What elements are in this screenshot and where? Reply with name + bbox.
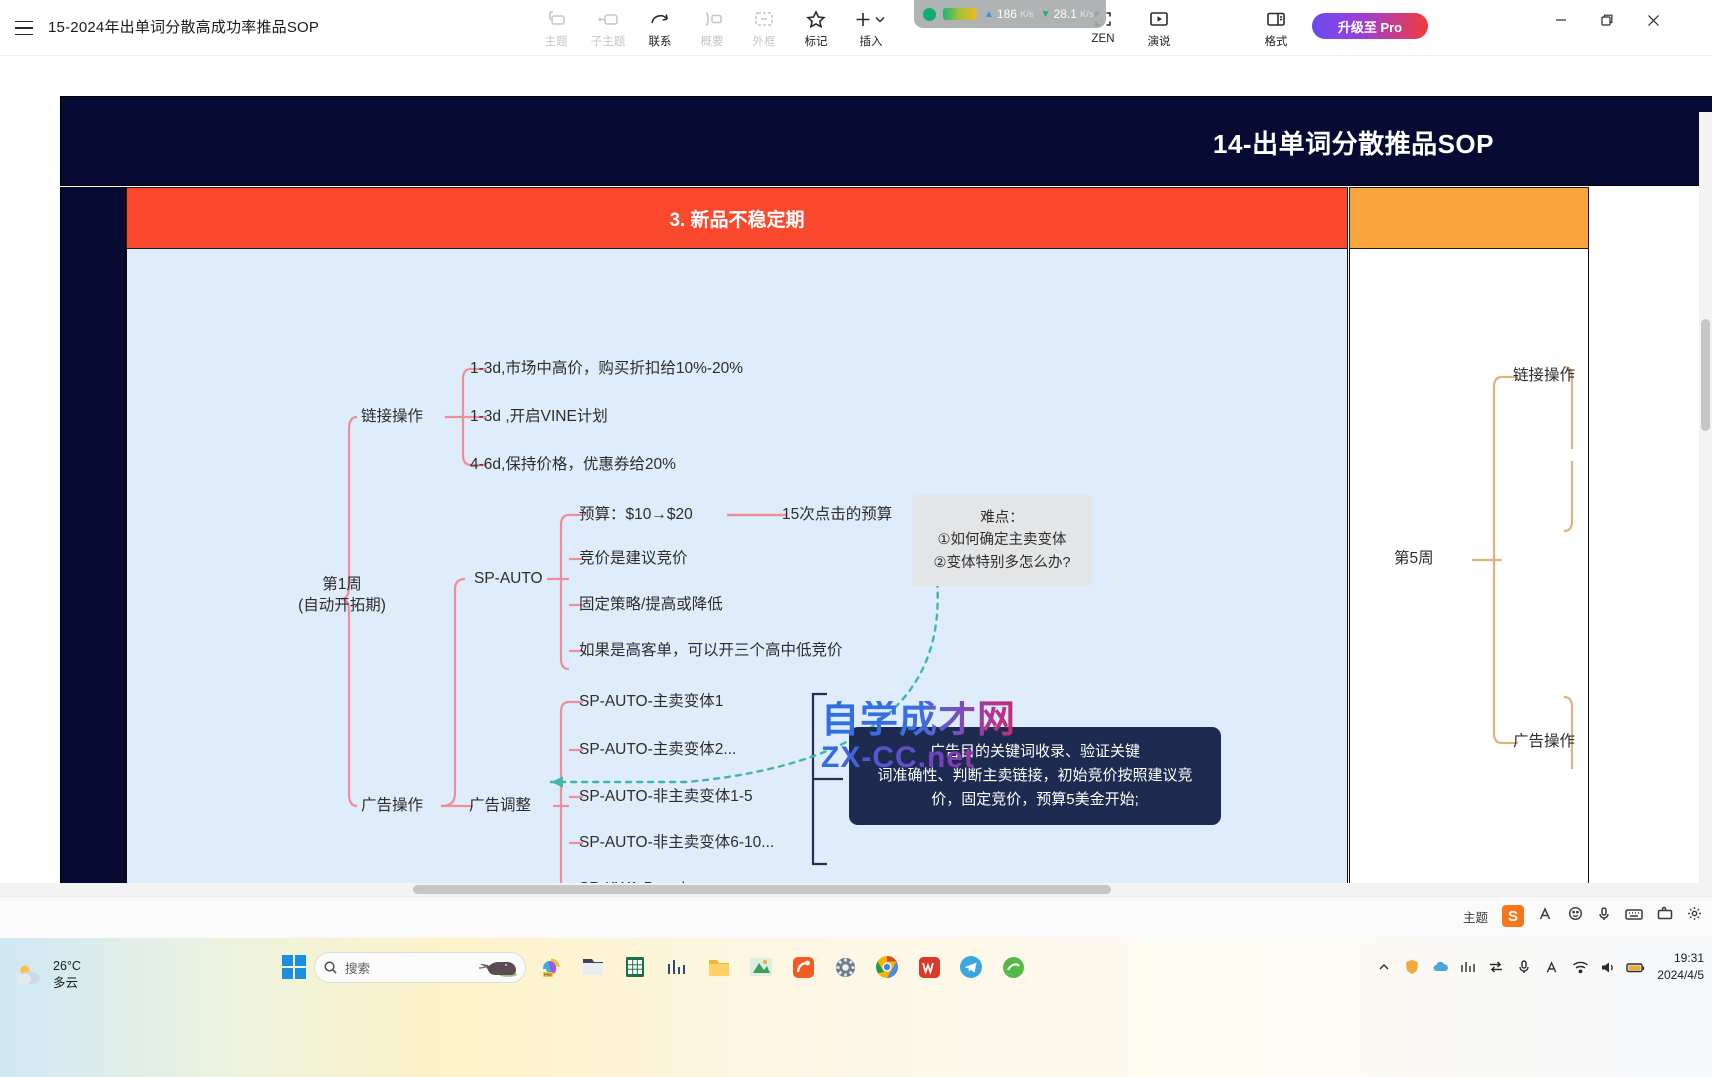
minimize-button[interactable]: [1538, 0, 1584, 40]
difficulty-callout-line-1: 难点：: [926, 507, 1078, 529]
topic-icon: [546, 8, 566, 30]
ad-purpose-line-2: 词准确性、判断主卖链接，初始竞价按照建议竞: [865, 764, 1205, 788]
tool-zen-label: ZEN: [1092, 33, 1115, 45]
tool-subtopic[interactable]: 子主题: [582, 4, 634, 52]
search-icon: [323, 960, 338, 975]
tool-topic-label: 主题: [545, 33, 568, 49]
close-button[interactable]: [1630, 0, 1676, 40]
network-transfer-icon[interactable]: [1483, 952, 1509, 982]
node-link-child-1[interactable]: 1-3d,市场中高价，购买折扣给10%-20%: [470, 359, 743, 380]
phase-banner-unstable[interactable]: 3. 新品不稳定期: [126, 187, 1348, 249]
summary-icon: [701, 8, 723, 30]
status-dot-icon: [923, 8, 936, 21]
difficulty-callout-line-2: ①如何确定主卖变体: [926, 529, 1078, 551]
tool-relation[interactable]: 联系: [634, 4, 686, 52]
mindmap-canvas[interactable]: 14-出单词分散推品SOP 3. 新品不稳定期: [0, 56, 1712, 910]
chevron-up-icon[interactable]: [1371, 952, 1397, 982]
branch-lines-right: [1350, 249, 1590, 910]
node-sp-auto-child-4[interactable]: 如果是高客单，可以开三个高中低竞价: [579, 641, 843, 662]
node-budget-note[interactable]: 15次点击的预算: [782, 505, 892, 526]
ad-purpose-line-1: 广告目的关键词收录、验证关键: [865, 740, 1205, 764]
tool-insert-label: 插入: [860, 33, 883, 49]
svg-text:PRE: PRE: [544, 972, 553, 977]
keyboard-icon[interactable]: [1625, 907, 1643, 926]
tool-present-label: 演说: [1148, 33, 1171, 49]
difficulty-callout[interactable]: 难点： ①如何确定主卖变体 ②变体特别多怎么办?: [912, 495, 1092, 586]
board-header: 14-出单词分散推品SOP: [60, 96, 1712, 186]
toolbox-icon[interactable]: [1657, 906, 1673, 926]
weather-text: 26°C 多云: [53, 958, 81, 992]
network-speed-widget[interactable]: ▲ 186 K/s ▼ 28.1 K/s: [914, 0, 1106, 28]
excel-icon[interactable]: [618, 950, 652, 984]
tool-marker-label: 标记: [805, 33, 828, 49]
restore-button[interactable]: [1584, 0, 1630, 40]
volume-icon[interactable]: [1595, 952, 1621, 982]
tool-insert[interactable]: 插入: [842, 4, 900, 52]
upgrade-pro-button[interactable]: 升级至 Pro: [1312, 13, 1428, 39]
relation-icon: [649, 8, 671, 30]
status-bar: 主题 S: [0, 896, 1712, 938]
ad-purpose-line-3: 价，固定竞价，预算5美金开始;: [865, 788, 1205, 812]
node-link-child-3[interactable]: 4-6d,保持价格，优惠券给20%: [470, 455, 676, 476]
ad-purpose-callout[interactable]: 广告目的关键词收录、验证关键 词准确性、判断主卖链接，初始竞价按照建议竞 价，固…: [849, 727, 1221, 825]
file-explorer-icon[interactable]: [576, 950, 610, 984]
windows-start-icon[interactable]: [282, 955, 306, 979]
speed-gauge-icon: [943, 8, 977, 20]
microphone-tray-icon[interactable]: [1511, 952, 1537, 982]
green-app-icon[interactable]: [996, 950, 1030, 984]
tool-summary[interactable]: 概要: [686, 4, 738, 52]
marker-star-icon: [806, 8, 826, 30]
node-ad-child-2[interactable]: SP-AUTO-主卖变体2...: [579, 740, 736, 761]
tool-format-label: 格式: [1265, 33, 1288, 49]
hamburger-menu-icon[interactable]: [8, 12, 40, 44]
node-link-child-2[interactable]: 1-3d ,开启VINE计划: [470, 407, 608, 428]
upload-speed: ▲ 186 K/s: [984, 7, 1034, 21]
maps-icon[interactable]: [744, 950, 778, 984]
shield-icon[interactable]: [1399, 952, 1425, 982]
insert-plus-icon: [854, 8, 888, 30]
tool-present[interactable]: 演说: [1131, 4, 1187, 52]
upload-arrow-icon: ▲: [984, 9, 994, 20]
tool-marker[interactable]: 标记: [790, 4, 842, 52]
upload-value: 186: [997, 7, 1017, 21]
xmind-tray-icon[interactable]: [1455, 952, 1481, 982]
download-unit: K/s: [1080, 9, 1094, 20]
telegram-icon[interactable]: [954, 950, 988, 984]
node-ad-child-1[interactable]: SP-AUTO-主卖变体1: [579, 692, 723, 713]
wifi-icon[interactable]: [1567, 952, 1593, 982]
node-sp-auto-child-3[interactable]: 固定策略/提高或降低: [579, 595, 723, 616]
node-right-ad-ops[interactable]: 广告操作: [1513, 732, 1575, 753]
present-play-icon: [1148, 8, 1170, 30]
horizontal-scrollbar[interactable]: [0, 883, 1712, 896]
mindmap-board: 14-出单词分散推品SOP 3. 新品不稳定期: [60, 96, 1712, 910]
edit-toolbar: 主题 子主题 联系 概要: [530, 4, 900, 52]
tool-format[interactable]: 格式: [1248, 4, 1304, 52]
tool-summary-label: 概要: [701, 33, 724, 49]
chart-app-icon[interactable]: [660, 950, 694, 984]
left-spine-column: [60, 187, 126, 910]
download-speed: ▼ 28.1 K/s: [1041, 7, 1094, 21]
theme-label[interactable]: 主题: [1463, 907, 1488, 926]
folder-icon[interactable]: [702, 950, 736, 984]
emoji-icon[interactable]: [1568, 906, 1583, 926]
node-ad-ops[interactable]: 广告操作: [361, 796, 423, 817]
settings-gear-icon[interactable]: [828, 950, 862, 984]
anteater-icon: [477, 956, 517, 978]
node-right-link-ops[interactable]: 链接操作: [1513, 366, 1575, 387]
vertical-scroll-thumb[interactable]: [1701, 319, 1710, 431]
vertical-scrollbar[interactable]: [1699, 112, 1712, 910]
windows-taskbar: 26°C 多云 搜索: [0, 938, 1712, 1077]
node-sp-auto-child-2[interactable]: 竞价是建议竞价: [579, 549, 688, 570]
weather-desc: 多云: [53, 975, 81, 992]
node-ad-child-3[interactable]: SP-AUTO-非主卖变体1-5: [579, 787, 753, 808]
download-value: 28.1: [1054, 7, 1077, 21]
status-bar-tools: 主题 S: [1463, 905, 1702, 927]
phase-banner-label: 3. 新品不稳定期: [669, 205, 804, 232]
tool-topic[interactable]: 主题: [530, 4, 582, 52]
node-ad-child-4[interactable]: SP-AUTO-非主卖变体6-10...: [579, 833, 774, 854]
node-sp-auto[interactable]: SP-AUTO: [474, 569, 543, 590]
font-icon[interactable]: [1538, 906, 1554, 927]
right-pane: 第5周 链接操作 广告操作: [1349, 249, 1589, 910]
taskbar-center: 搜索 PRE: [282, 950, 1030, 984]
system-tray: 19:31 2024/4/5: [1371, 950, 1704, 985]
clock-date: 2024/4/5: [1657, 967, 1704, 984]
format-panel-icon: [1265, 8, 1287, 30]
phase-banner-next[interactable]: [1349, 187, 1589, 249]
tool-boundary-label: 外框: [753, 33, 776, 49]
chrome-icon[interactable]: [870, 950, 904, 984]
sogou-logo-icon[interactable]: S: [1502, 905, 1524, 927]
microphone-icon[interactable]: [1597, 906, 1611, 927]
subtopic-icon: [597, 8, 619, 30]
upload-unit: K/s: [1020, 9, 1034, 20]
tool-relation-label: 联系: [649, 33, 672, 49]
format-toolbar: 格式: [1248, 4, 1304, 52]
taskbar-clock[interactable]: 19:31 2024/4/5: [1657, 950, 1704, 985]
wps-icon[interactable]: [912, 950, 946, 984]
node-root-line2: (自动开拓期): [247, 596, 437, 617]
node-root[interactable]: 第1周 (自动开拓期): [247, 575, 437, 617]
weather-temp: 26°C: [53, 958, 81, 975]
partly-cloudy-icon: [14, 962, 44, 988]
weather-widget[interactable]: 26°C 多云: [14, 958, 81, 992]
node-sp-auto-child-1[interactable]: 预算：$10→$20: [579, 505, 693, 526]
main-pane: 第1周 (自动开拓期) 链接操作 广告操作 1-3d,市场中高价，购买折扣给10…: [126, 249, 1348, 910]
difficulty-callout-line-3: ②变体特别多怎么办?: [926, 552, 1078, 574]
board-title: 14-出单词分散推品SOP: [1213, 124, 1494, 161]
node-root-line1: 第1周: [247, 575, 437, 596]
cloud-sync-icon[interactable]: [1427, 952, 1453, 982]
node-week-5[interactable]: 第5周: [1394, 549, 1434, 570]
clock-time: 19:31: [1657, 950, 1704, 967]
download-arrow-icon: ▼: [1041, 9, 1051, 20]
node-link-ops[interactable]: 链接操作: [361, 407, 423, 428]
xmind-icon[interactable]: [786, 950, 820, 984]
node-ad-adjust[interactable]: 广告调整: [469, 796, 531, 817]
font-tray-icon[interactable]: [1539, 952, 1565, 982]
settings-icon[interactable]: [1687, 906, 1702, 926]
battery-icon[interactable]: [1623, 952, 1649, 982]
boundary-icon: [753, 8, 775, 30]
search-input[interactable]: 搜索: [314, 952, 526, 983]
tool-boundary[interactable]: 外框: [738, 4, 790, 52]
copilot-icon[interactable]: PRE: [534, 950, 568, 984]
horizontal-scroll-thumb[interactable]: [413, 885, 1111, 894]
document-title: 15-2024年出单词分散高成功率推品SOP: [48, 16, 319, 37]
tool-subtopic-label: 子主题: [591, 33, 626, 49]
search-placeholder: 搜索: [345, 958, 370, 977]
title-bar: 15-2024年出单词分散高成功率推品SOP 主题 子主题 联系: [0, 0, 1712, 56]
